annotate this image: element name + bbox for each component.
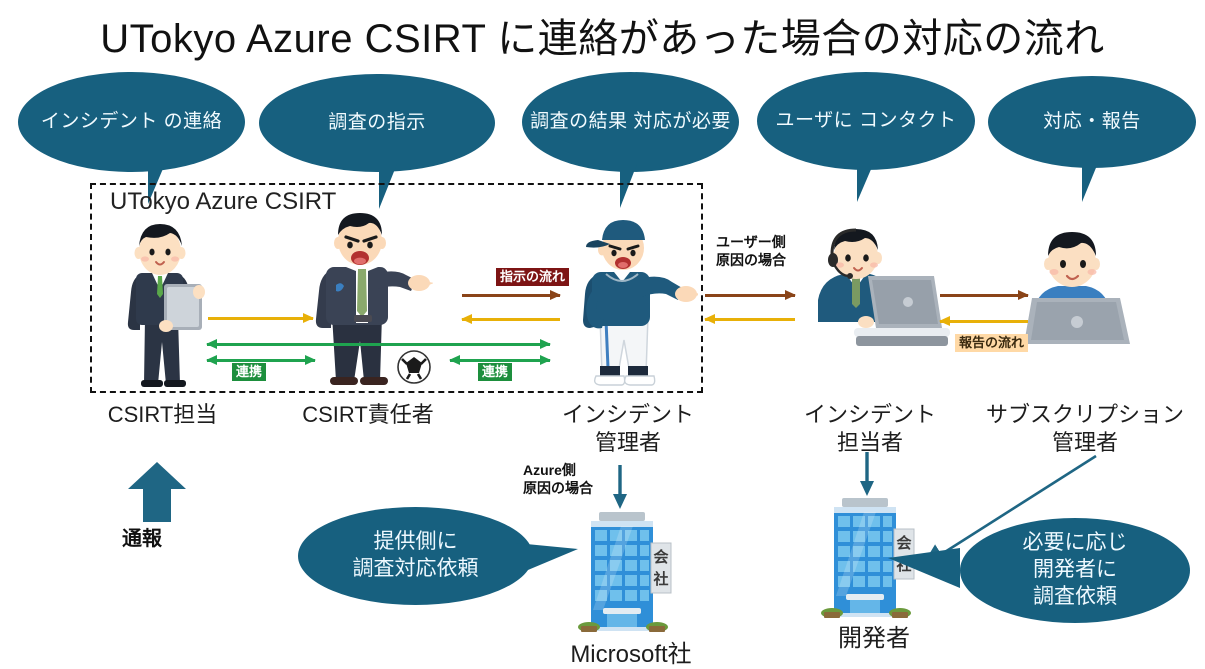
bubble-result-action: 調査の結果 対応が必要: [522, 72, 739, 172]
arrow-head: [785, 290, 796, 300]
arrow-head-reverse: [449, 355, 460, 365]
bubble-user-contact: ユーザに コンタクト: [757, 72, 975, 170]
arrow-head: [939, 316, 950, 326]
arrow-shaft: [705, 318, 795, 321]
bubble-label: ユーザに コンタクト: [770, 110, 963, 132]
bubble-body: インシデント の連絡: [18, 72, 245, 172]
arrow-down-to-developer: [859, 452, 875, 501]
arrow-shaft: [940, 294, 1028, 297]
callout-tail: [888, 548, 960, 588]
svg-text:会: 会: [653, 548, 668, 566]
bubble-investigation-order: 調査の指示: [259, 74, 495, 172]
bubble-body: 対応・報告: [988, 76, 1196, 168]
arrow-head: [704, 314, 715, 324]
headset-operator-icon: [790, 228, 950, 353]
chip-instruction-flow: 指示の流れ: [496, 268, 569, 286]
bubble-tail: [1082, 158, 1112, 202]
arrow-shaft: [705, 294, 795, 297]
callout-tail: [516, 543, 578, 575]
bubble-body: 調査の結果 対応が必要: [522, 72, 739, 172]
building-caption-developer: 開発者: [824, 618, 924, 653]
note-user-side-cause: ユーザー側 原因の場合: [716, 234, 786, 269]
report-label: 通報: [122, 522, 162, 551]
diagram-canvas: UTokyo Azure CSIRT に連絡があった場合の対応の流れ インシデン…: [0, 0, 1205, 668]
chip-cooperation-left: 連携: [232, 363, 266, 381]
callout-ask-provider: 提供側に 調査対応依頼: [298, 507, 533, 605]
arrow-shaft: [207, 359, 315, 362]
callout-label: 提供側に 調査対応依頼: [353, 529, 479, 583]
svg-text:社: 社: [652, 570, 668, 588]
arrow-down-to-microsoft: [612, 465, 628, 514]
bubble-label: 対応・報告: [1037, 111, 1147, 133]
chip-report-flow: 報告の流れ: [955, 334, 1028, 352]
arrow-shaft: [462, 294, 560, 297]
arrow-shaft: [940, 320, 1028, 323]
bubble-body: ユーザに コンタクト: [757, 72, 975, 170]
bubble-tail: [857, 160, 887, 202]
bubble-label: インシデント の連絡: [35, 111, 228, 133]
coach-pointing-icon: [570, 216, 698, 392]
callout-body: 必要に応じ 開発者に 調査依頼: [960, 518, 1190, 623]
arrow-head-reverse: [206, 355, 217, 365]
arrow-head: [550, 290, 561, 300]
arrow-shaft: [208, 317, 313, 320]
arrow-head: [461, 314, 472, 324]
arrow-shaft: [450, 359, 550, 362]
bubble-body: 調査の指示: [259, 74, 495, 172]
page-title: UTokyo Azure CSIRT に連絡があった場合の対応の流れ: [0, 6, 1205, 64]
report-up-arrow-icon: [128, 462, 186, 522]
callout-ask-developer: 必要に応じ 開発者に 調査依頼: [960, 518, 1190, 623]
actor-label-csirt-staff: CSIRT担当: [95, 401, 230, 429]
businessman-tablet-icon: [108, 218, 212, 390]
note-azure-side-cause: Azure側 原因の場合: [523, 462, 593, 497]
arrow-shaft: [430, 343, 550, 346]
building-caption-microsoft: Microsoft社: [541, 634, 721, 669]
arrow-head: [540, 355, 551, 365]
actor-label-incident-manager: インシデント 管理者: [548, 401, 708, 456]
actor-label-csirt-manager: CSIRT責任者: [293, 401, 443, 429]
arrow-head: [540, 339, 551, 349]
actor-label-incident-handler: インシデント 担当者: [790, 401, 950, 456]
bubble-label: 調査の結果 対応が必要: [524, 111, 737, 133]
bubble-label: 調査の指示: [322, 112, 432, 134]
callout-body: 提供側に 調査対応依頼: [298, 507, 533, 605]
arrow-head: [206, 339, 217, 349]
arrow-head: [303, 313, 314, 323]
angry-manager-pointing-icon: [298, 211, 433, 391]
arrow-head: [1018, 290, 1029, 300]
callout-label: 必要に応じ 開発者に 調査依頼: [1023, 530, 1128, 611]
arrow-shaft: [462, 318, 560, 321]
actor-label-subscription-admin: サブスクリプション 管理者: [980, 401, 1190, 456]
building-microsoft-icon: 会 社: [577, 510, 685, 633]
arrow-head: [305, 355, 316, 365]
chip-cooperation-right: 連携: [478, 363, 512, 381]
bubble-incident-report: インシデント の連絡: [18, 72, 245, 172]
laptop-user-icon: [1008, 228, 1158, 353]
bubble-respond-report: 対応・報告: [988, 76, 1196, 168]
